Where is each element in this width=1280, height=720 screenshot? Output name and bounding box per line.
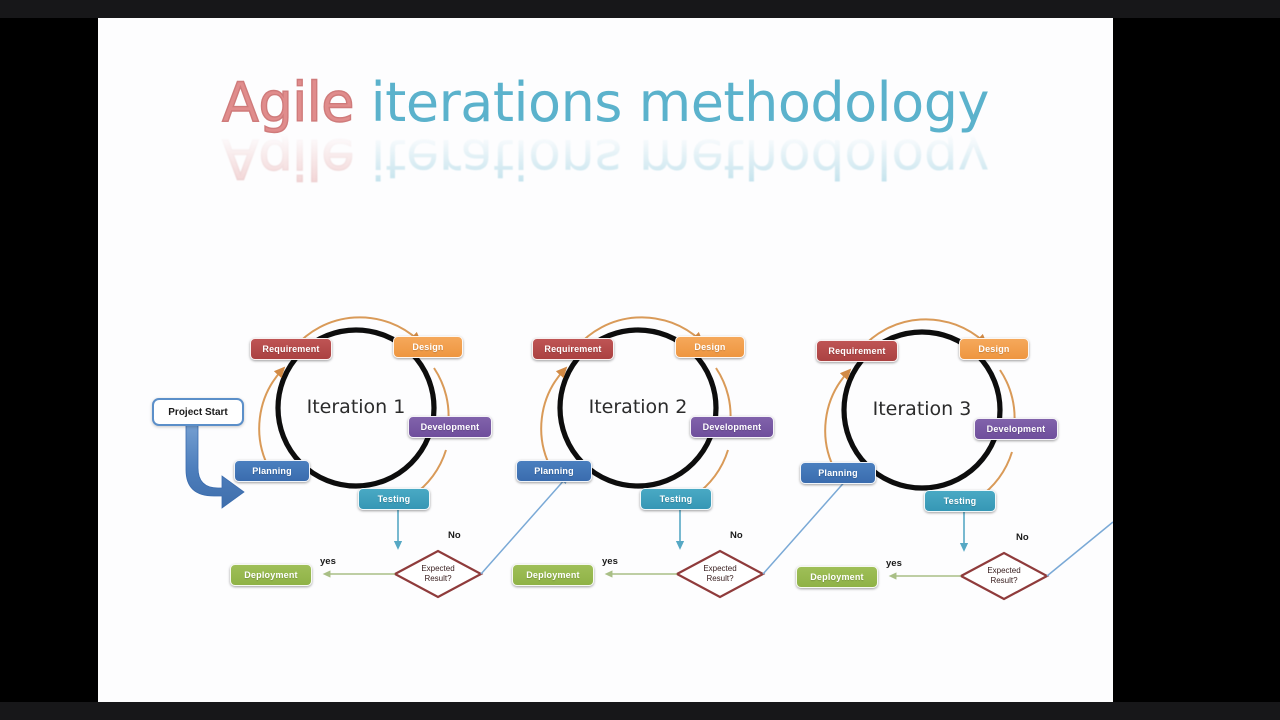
iteration-1-node-testing[interactable]: Testing [358,488,430,510]
iteration-2-label: Iteration 2 [578,396,698,418]
iteration-3-node-planning[interactable]: Planning [800,462,876,484]
iteration-3-node-testing[interactable]: Testing [924,490,996,512]
iteration-3-decision-line2: Result? [990,576,1017,585]
iteration-1-node-development[interactable]: Development [408,416,492,438]
iteration-1-node-planning[interactable]: Planning [234,460,310,482]
letterbox-top [0,0,1280,18]
iteration-2-node-requirement[interactable]: Requirement [532,338,614,360]
diagram-vectors [98,18,1113,702]
iteration-1-no-label: No [448,530,461,541]
iteration-2-node-testing[interactable]: Testing [640,488,712,510]
iteration-2-decision-text: Expected Result? [680,564,760,584]
iteration-2-node-planning[interactable]: Planning [516,460,592,482]
iteration-3-yes-label: yes [886,558,902,569]
letterbox-left [0,18,98,702]
iteration-2-node-deployment[interactable]: Deployment [512,564,594,586]
iteration-2-decision-line2: Result? [706,574,733,583]
iteration-3-no-label: No [1016,532,1029,543]
iteration-1-node-deployment[interactable]: Deployment [230,564,312,586]
iteration-2-node-design[interactable]: Design [675,336,745,358]
iteration-1-graphics [186,317,566,597]
iteration-2-decision-line1: Expected [703,564,736,573]
slide-canvas: Agile iterations methodology Agile itera… [98,18,1113,702]
iteration-3-decision-text: Expected Result? [964,566,1044,586]
iteration-3-decision-line1: Expected [987,566,1020,575]
letterbox-right [1113,18,1280,702]
letterbox-bottom [0,702,1280,720]
iteration-2-node-development[interactable]: Development [690,416,774,438]
iteration-1-decision-line2: Result? [424,574,451,583]
iteration-1-node-design[interactable]: Design [393,336,463,358]
iteration-1-decision-text: Expected Result? [398,564,478,584]
iteration-3-node-deployment[interactable]: Deployment [796,566,878,588]
iteration-3-node-development[interactable]: Development [974,418,1058,440]
agile-iterations-diagram: Project Start Requirement Design Develop… [98,18,1113,702]
iteration-2-no-label: No [730,530,743,541]
iteration-1-label: Iteration 1 [296,396,416,418]
iteration-1-node-requirement[interactable]: Requirement [250,338,332,360]
screenshot-stage: Agile iterations methodology Agile itera… [0,0,1280,720]
iteration-3-node-design[interactable]: Design [959,338,1029,360]
iteration-1-yes-label: yes [320,556,336,567]
iteration-1-decision-line1: Expected [421,564,454,573]
iteration-2-yes-label: yes [602,556,618,567]
iteration-3-node-requirement[interactable]: Requirement [816,340,898,362]
project-start-box[interactable]: Project Start [152,398,244,426]
iteration-3-label: Iteration 3 [862,398,982,420]
